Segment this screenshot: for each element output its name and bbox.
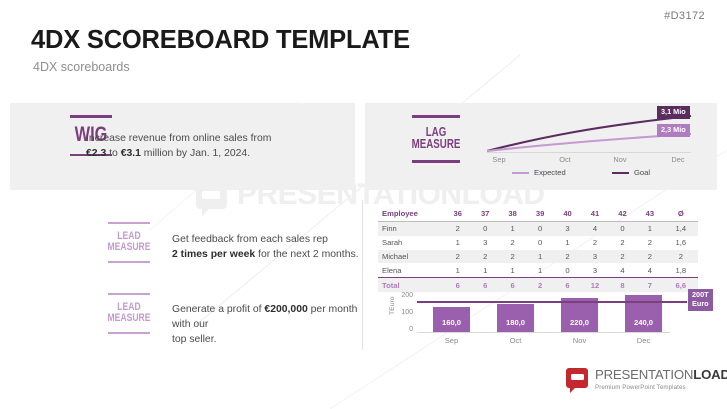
badge-goal-value: 3,1 Mio <box>657 106 690 119</box>
speech-bubble-logo-icon <box>566 368 588 388</box>
lag-tick-3: Dec <box>671 155 684 164</box>
logo-tagline: Premium PowerPoint Templates <box>595 384 727 391</box>
col-average: Ø <box>664 207 698 222</box>
col-39: 39 <box>526 207 553 222</box>
row-name: Elena <box>378 263 444 277</box>
bar-x-tick-nov: Nov <box>573 336 587 345</box>
cell-average: 1,4 <box>664 222 698 236</box>
col-employee: Employee <box>378 207 444 222</box>
cell: 1 <box>526 250 553 264</box>
table-row: Sarah 1 3 2 0 1 2 2 2 1,6 <box>378 236 698 250</box>
wig-text-to: to <box>106 148 120 159</box>
badge-expected-value: 2,3 Mio <box>657 124 690 137</box>
lag-tick-2: Nov <box>613 155 626 164</box>
lag-label-line2: MEASURE <box>408 138 464 151</box>
bar-y-tick-0: 0 <box>393 326 413 333</box>
cell: 2 <box>581 236 608 250</box>
cell: 1 <box>554 236 581 250</box>
lead-2-highlight: €200,000 <box>264 304 307 315</box>
legend-swatch-expected <box>512 172 529 174</box>
lead-2-text-line2: top seller. <box>172 334 216 345</box>
cell: 2 <box>636 250 663 264</box>
cell-average: 1,8 <box>664 263 698 277</box>
cell: 2 <box>609 236 636 250</box>
bar-x-tick-dec: Dec <box>637 336 651 345</box>
cell: 3 <box>471 236 498 250</box>
lead-2-label-line2: MEASURE <box>105 313 153 324</box>
document-id: #D3172 <box>664 10 705 22</box>
col-40: 40 <box>554 207 581 222</box>
col-36: 36 <box>444 207 471 222</box>
legend-swatch-goal <box>612 172 629 174</box>
lead-measure-1-label: LEAD MEASURE <box>98 222 160 263</box>
cell: 1 <box>499 263 526 277</box>
lead-1-highlight: 2 times per week <box>172 249 255 260</box>
bar-y-tick-100: 100 <box>393 309 413 316</box>
lag-x-ticks: Sep Oct Nov Dec <box>487 155 697 167</box>
cell: 1 <box>636 222 663 236</box>
wig-text-tail: million by Jan. 1, 2024. <box>141 148 250 159</box>
logo-text-b: LOAD <box>693 367 727 382</box>
cell: 1 <box>499 222 526 236</box>
cell: 2 <box>609 250 636 264</box>
slide: #D3172 4DX SCOREBOARD TEMPLATE 4DX score… <box>0 0 727 409</box>
col-37: 37 <box>471 207 498 222</box>
lead-measure-2-label: LEAD MEASURE <box>98 293 160 334</box>
cell: 2 <box>471 250 498 264</box>
lead-2-text-head: Generate a profit of <box>172 304 264 315</box>
wig-text-line1: Increase revenue from online sales from <box>86 133 271 144</box>
target-badge: 200T Euro <box>688 289 713 311</box>
col-43: 43 <box>636 207 663 222</box>
lag-rule-top <box>412 115 460 118</box>
cell: 1 <box>471 263 498 277</box>
cell: 2 <box>444 222 471 236</box>
bar-y-tick-200: 200 <box>393 292 413 299</box>
bar-value-nov: 220,0 <box>570 318 589 327</box>
cell: 1 <box>526 263 553 277</box>
row-name: Finn <box>378 222 444 236</box>
wig-description: Increase revenue from online sales from … <box>86 131 336 161</box>
lag-legend: Expected Goal <box>500 168 700 180</box>
cell: 0 <box>526 236 553 250</box>
lead-2-rule-top <box>108 293 150 295</box>
lag-tick-0: Sep <box>492 155 505 164</box>
lead-1-text-line1: Get feedback from each sales rep <box>172 234 328 245</box>
target-line <box>417 301 687 303</box>
lag-axis <box>487 152 691 153</box>
wig-rule-top <box>70 115 112 118</box>
legend-label-expected: Expected <box>534 168 566 177</box>
target-badge-line2: Euro <box>692 299 709 308</box>
lead-1-rule-bottom <box>108 261 150 263</box>
cell: 2 <box>499 236 526 250</box>
lead-1-text-tail: for the next 2 months. <box>255 249 358 260</box>
row-name: Sarah <box>378 236 444 250</box>
lag-label: LAG MEASURE <box>400 115 472 163</box>
cell: 3 <box>581 250 608 264</box>
legend-label-goal: Goal <box>634 168 650 177</box>
col-38: 38 <box>499 207 526 222</box>
cell: 0 <box>554 263 581 277</box>
lead-1-label-line2: MEASURE <box>105 242 153 253</box>
row-name: Michael <box>378 250 444 264</box>
cell: 3 <box>554 222 581 236</box>
cell: 0 <box>609 222 636 236</box>
bar-x-tick-oct: Oct <box>510 336 522 345</box>
table-row: Elena 1 1 1 1 0 3 4 4 1,8 <box>378 263 698 277</box>
cell-average: 1,6 <box>664 236 698 250</box>
cell: 3 <box>581 263 608 277</box>
bar-value-oct: 180,0 <box>506 318 525 327</box>
lag-tick-1: Oct <box>559 155 571 164</box>
cell: 2 <box>554 250 581 264</box>
cell: 0 <box>471 222 498 236</box>
presentationload-logo: PRESENTATIONLOAD® Premium PowerPoint Tem… <box>566 368 727 391</box>
lead-measure-1-description: Get feedback from each sales rep 2 times… <box>172 232 362 262</box>
lead-1-rule-top <box>108 222 150 224</box>
employee-table: Employee 36 37 38 39 40 41 42 43 Ø Finn … <box>378 207 698 292</box>
cell: 4 <box>609 263 636 277</box>
col-42: 42 <box>609 207 636 222</box>
table-header-row: Employee 36 37 38 39 40 41 42 43 Ø <box>378 207 698 222</box>
cell-average: 2 <box>664 250 698 264</box>
col-41: 41 <box>581 207 608 222</box>
bar-value-sep: 160,0 <box>442 318 461 327</box>
bar-baseline <box>417 332 670 333</box>
cell: 2 <box>636 236 663 250</box>
table-row: Finn 2 0 1 0 3 4 0 1 1,4 <box>378 222 698 236</box>
legend-item-goal: Goal <box>612 168 650 177</box>
cell: 4 <box>636 263 663 277</box>
logo-text-a: PRESENTATION <box>595 367 693 382</box>
table-row: Michael 2 2 2 1 2 3 2 2 2 <box>378 250 698 264</box>
bar-x-tick-sep: Sep <box>445 336 459 345</box>
cell: 2 <box>444 250 471 264</box>
cell: 2 <box>499 250 526 264</box>
lead-measure-2-description: Generate a profit of €200,000 per month … <box>172 302 372 347</box>
wig-amount-from: €2.3 <box>86 148 106 159</box>
cell: 4 <box>581 222 608 236</box>
page-subtitle: 4DX scoreboards <box>33 60 130 74</box>
monthly-profit-bar-chart: TEuro 200 100 0 160,0 180,0 220,0 240,0 … <box>385 285 685 347</box>
lag-rule-bottom <box>412 160 460 163</box>
target-badge-line1: 200T <box>692 290 709 299</box>
cell: 1 <box>444 236 471 250</box>
cell: 0 <box>526 222 553 236</box>
page-title: 4DX SCOREBOARD TEMPLATE <box>31 26 410 55</box>
bar-value-dec: 240,0 <box>634 318 653 327</box>
legend-item-expected: Expected <box>512 168 566 177</box>
cell: 1 <box>444 263 471 277</box>
lead-2-rule-bottom <box>108 332 150 334</box>
wig-amount-to: €3.1 <box>121 148 141 159</box>
logo-wordmark: PRESENTATIONLOAD® <box>595 368 727 381</box>
